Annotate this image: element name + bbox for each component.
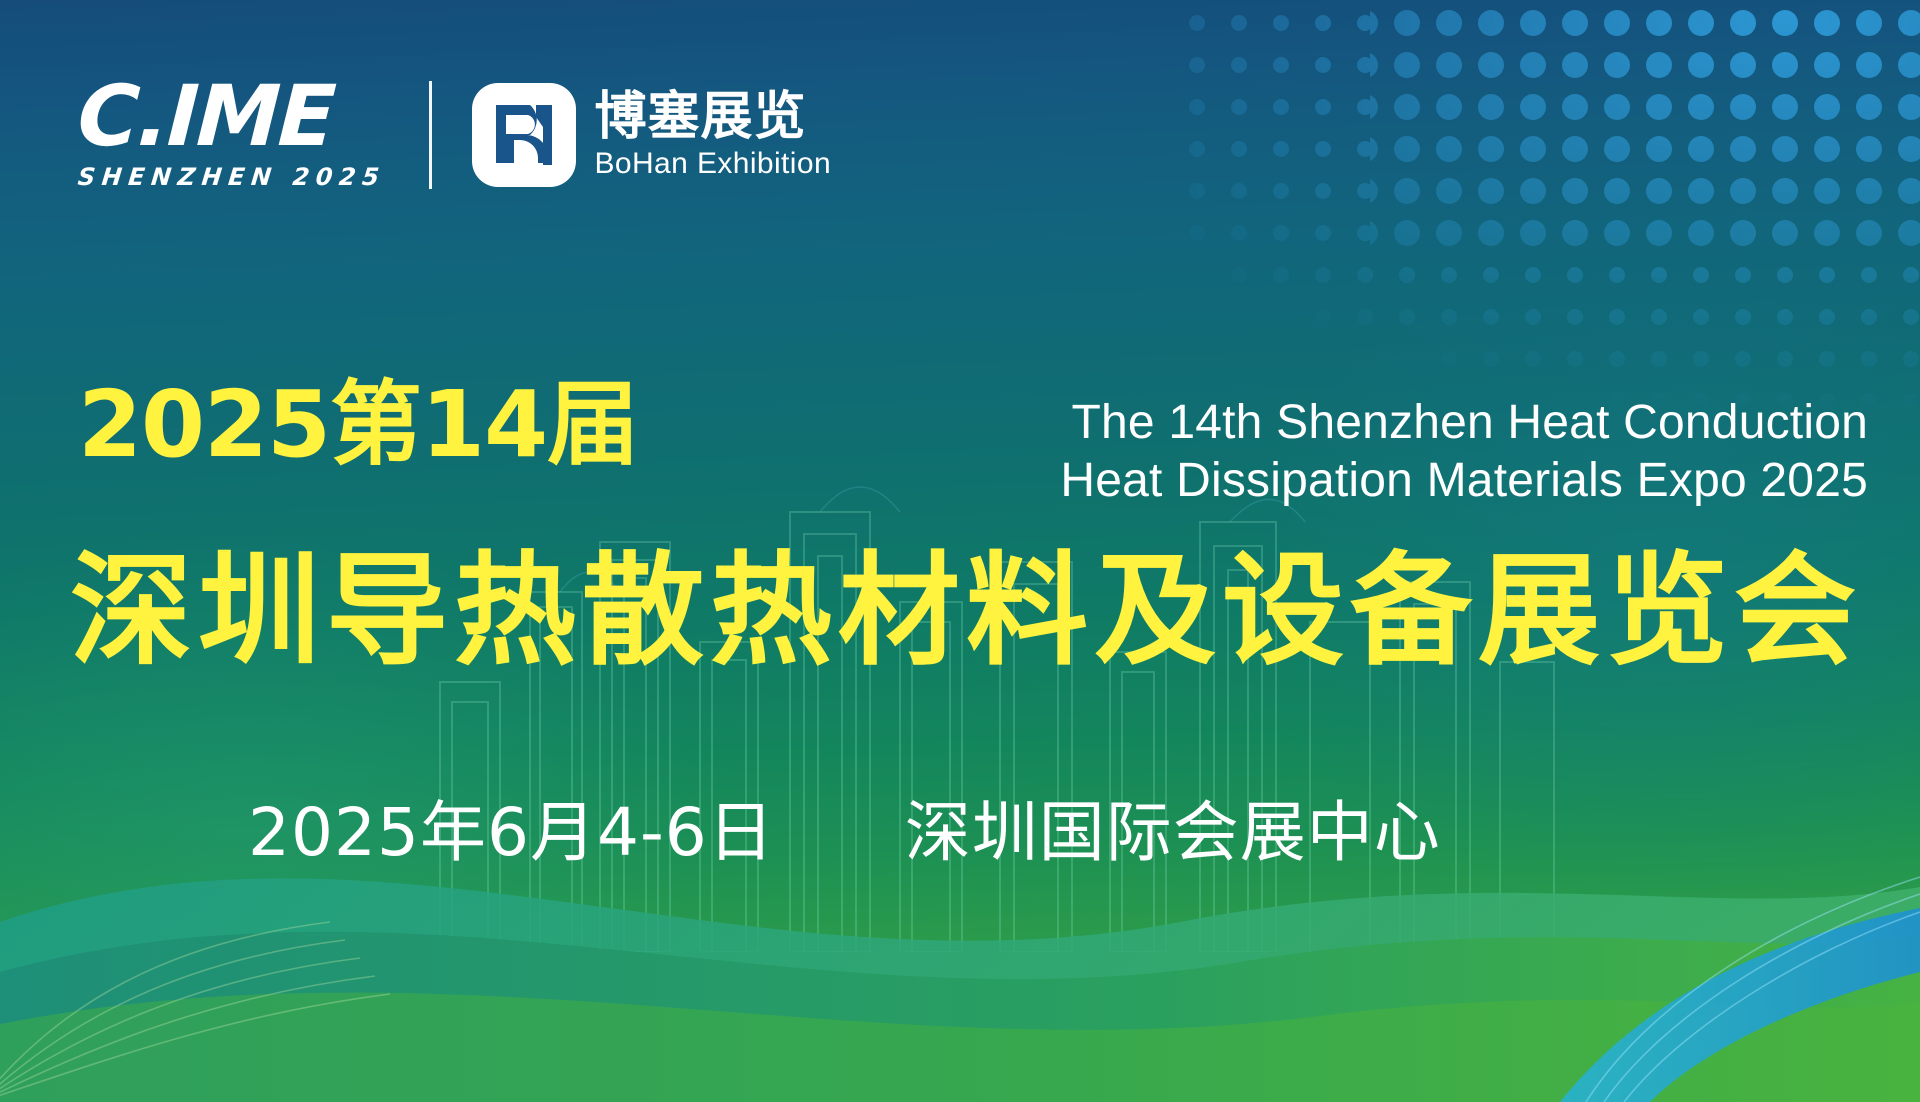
- bohan-chinese-name: 博塞展览: [594, 91, 831, 143]
- event-venue: 深圳国际会展中心: [905, 800, 1441, 866]
- wave-ribbons-decoration: [0, 672, 1920, 1102]
- cime-subtitle: SHENZHEN 2025: [77, 163, 387, 191]
- title-english-block: The 14th Shenzhen Heat Conduction Heat D…: [678, 378, 1868, 509]
- bohan-logo[interactable]: 博塞展览 BoHan Exhibition: [472, 83, 831, 187]
- bohan-text-block: 博塞展览 BoHan Exhibition: [594, 91, 831, 179]
- logo-bar: C.IME SHENZHEN 2025 博塞展览 BoHan Exhibitio…: [78, 78, 831, 191]
- title-english-line2: Heat Dissipation Materials Expo 2025: [678, 452, 1868, 510]
- bohan-english-name: BoHan Exhibition: [594, 149, 831, 179]
- poster-canvas: C.IME SHENZHEN 2025 博塞展览 BoHan Exhibitio…: [0, 0, 1920, 1102]
- bohan-mark-icon: [472, 83, 576, 187]
- title-chinese-line2: 深圳导热散热材料及设备展览会: [70, 550, 1862, 672]
- event-date: 2025年6月4-6日: [248, 800, 775, 866]
- title-chinese-line1: 2025第14届: [78, 378, 638, 472]
- title-row: 2025第14届 The 14th Shenzhen Heat Conducti…: [78, 378, 1868, 509]
- event-info-row: 2025年6月4-6日 深圳国际会展中心: [248, 800, 1441, 866]
- title-english-line1: The 14th Shenzhen Heat Conduction: [678, 394, 1868, 452]
- logo-divider: [429, 81, 432, 189]
- halftone-dots-decoration: [1050, 0, 1920, 430]
- cime-wordmark: C.IME: [76, 78, 336, 155]
- cime-logo[interactable]: C.IME SHENZHEN 2025: [78, 78, 385, 191]
